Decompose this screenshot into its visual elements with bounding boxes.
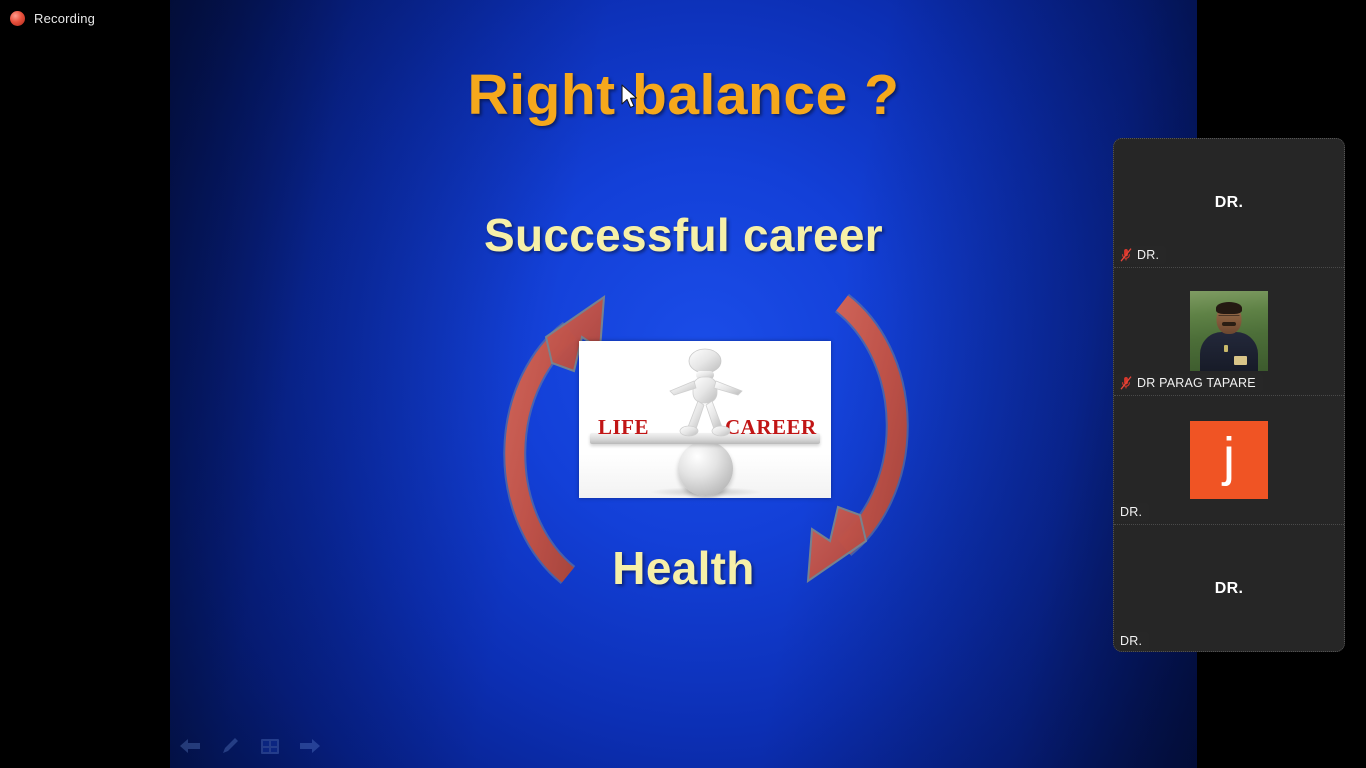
recording-dot-icon <box>10 11 25 26</box>
participant-name: DR. <box>1120 634 1142 648</box>
participant-tile[interactable]: DR. DR. <box>1114 139 1344 268</box>
pen-icon[interactable] <box>218 734 242 758</box>
presentation-slide[interactable]: Right balance ? Successful career Health <box>170 0 1197 768</box>
photo-moustache <box>1222 322 1236 326</box>
grid-icon[interactable] <box>258 734 282 758</box>
zoom-participants-panel[interactable]: DR. DR. <box>1113 138 1345 652</box>
photo-badge <box>1234 356 1247 365</box>
balance-fulcrum <box>678 441 733 496</box>
photo-hair <box>1216 302 1242 314</box>
participant-video <box>1190 291 1268 371</box>
slide-title: Right balance ? <box>170 62 1197 128</box>
recording-label: Recording <box>34 11 95 26</box>
participant-tile[interactable]: j DR. <box>1114 396 1344 525</box>
balance-label-life: LIFE <box>598 415 649 440</box>
participant-name: DR. <box>1120 505 1142 519</box>
participant-name-badge: DR PARAG TAPARE <box>1116 374 1263 392</box>
participant-name-badge: DR. <box>1116 246 1166 264</box>
screen-root: Recording Right balance ? Successful car… <box>0 0 1366 768</box>
participant-initials: DR. <box>1215 580 1243 598</box>
participant-tile[interactable]: DR. DR. <box>1114 525 1344 653</box>
photo-body <box>1200 332 1258 371</box>
participant-name: DR PARAG TAPARE <box>1137 376 1256 390</box>
photo-pin <box>1224 345 1228 352</box>
arrow-left-icon[interactable] <box>178 734 202 758</box>
balancing-figure-icon <box>658 347 753 439</box>
mouse-cursor <box>621 84 639 110</box>
presenter-toolbar[interactable] <box>178 734 322 758</box>
participant-name: DR. <box>1137 248 1159 262</box>
participant-initials: DR. <box>1215 194 1243 212</box>
participant-avatar: j <box>1190 421 1268 499</box>
mic-muted-icon <box>1120 248 1132 262</box>
photo-glasses <box>1219 315 1240 320</box>
slide-content: Right balance ? Successful career Health <box>170 0 1197 768</box>
life-career-balance-image: LIFE CAREER <box>579 341 831 498</box>
mic-muted-icon <box>1120 376 1132 390</box>
recording-indicator: Recording <box>10 11 95 26</box>
participant-tile[interactable]: DR PARAG TAPARE <box>1114 268 1344 397</box>
participant-name-badge: DR. <box>1116 632 1149 650</box>
participant-name-badge: DR. <box>1116 503 1149 521</box>
arrow-right-icon[interactable] <box>298 734 322 758</box>
slide-label-successful-career: Successful career <box>170 208 1197 262</box>
